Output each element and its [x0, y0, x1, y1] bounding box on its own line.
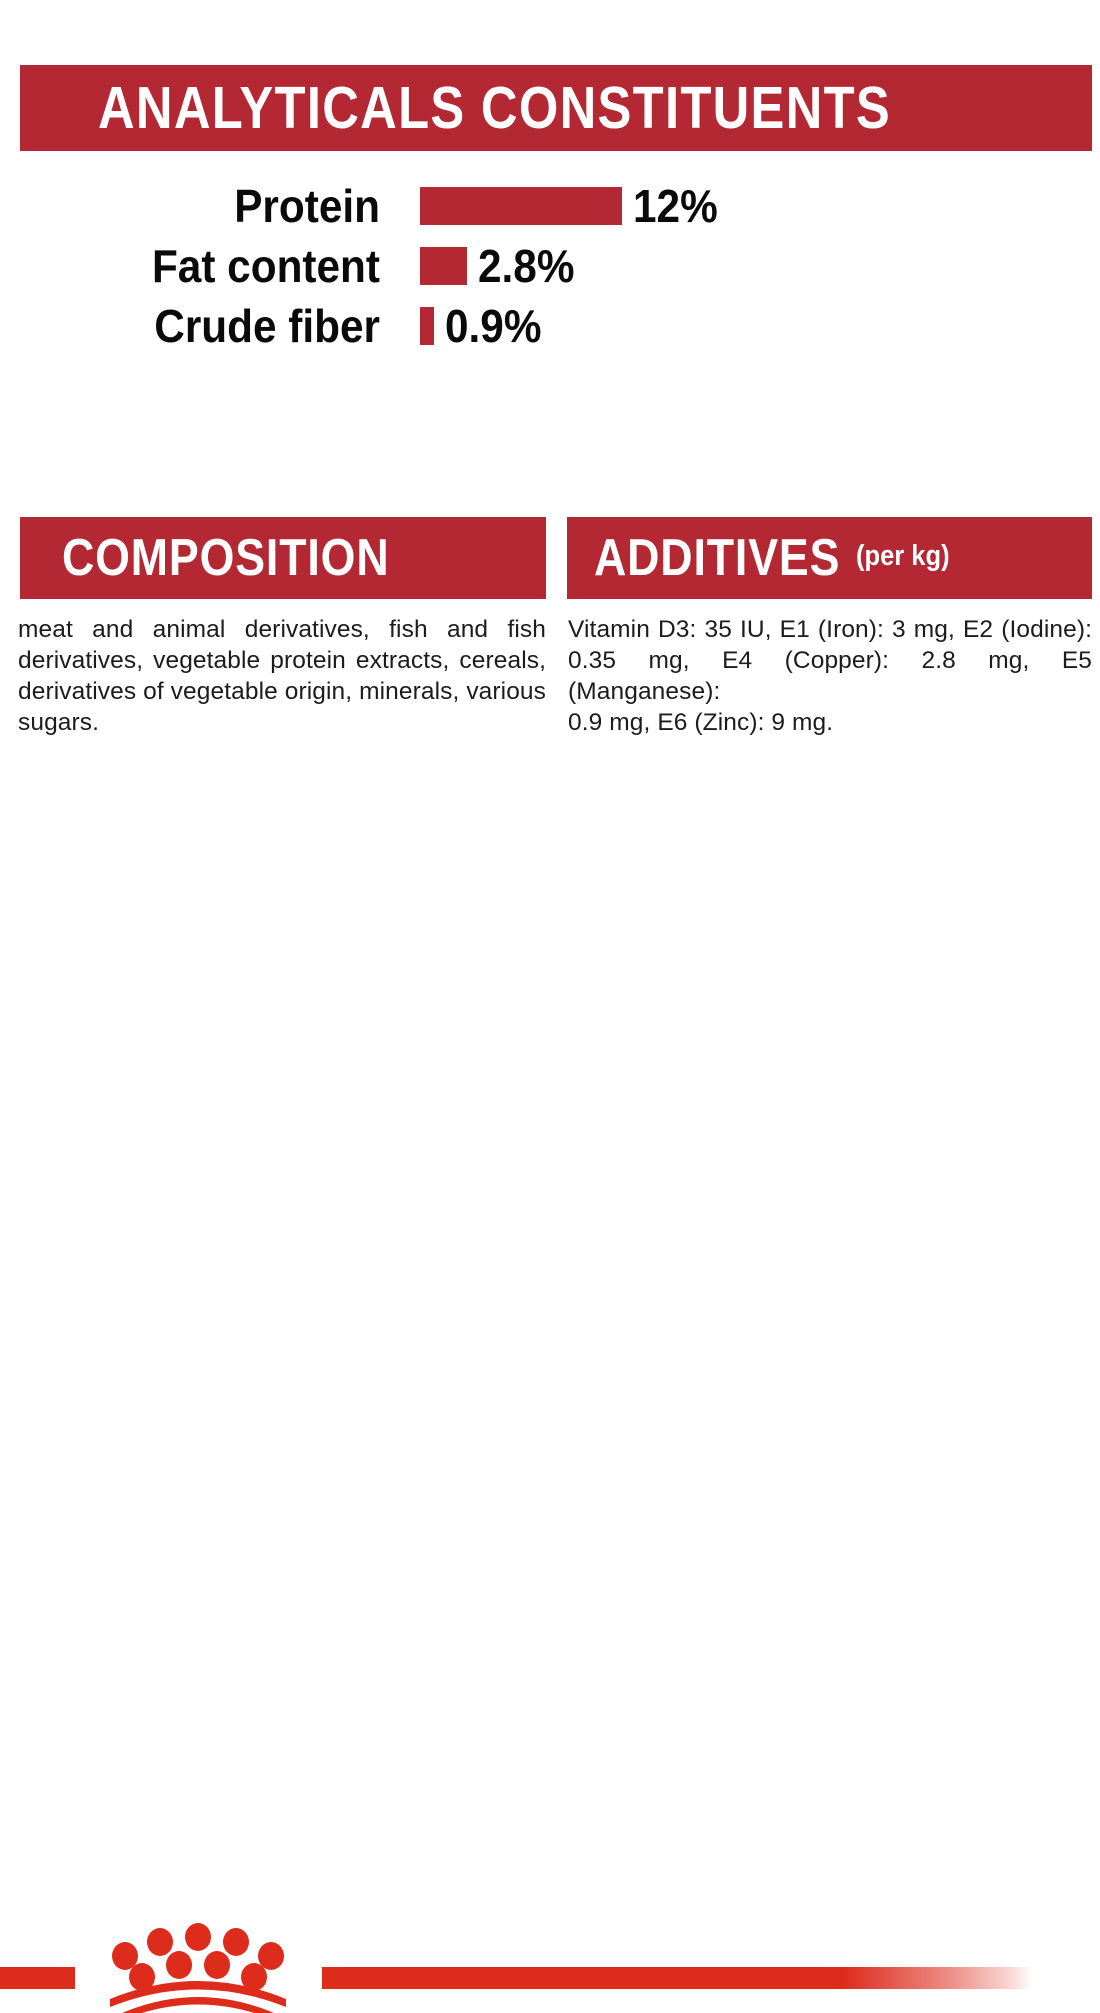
page-title: ANALYTICALS CONSTITUENTS: [98, 79, 891, 138]
royal-canin-crown-icon: [78, 1923, 318, 2013]
footer-rule-right: [322, 1967, 1032, 1989]
additives-heading: ADDITIVES: [594, 532, 840, 584]
composition-heading: COMPOSITION: [62, 532, 389, 584]
chart-bar-crude-fiber: [420, 307, 434, 345]
chart-label-protein: Protein: [30, 183, 380, 229]
additives-banner: ADDITIVES (per kg): [567, 517, 1092, 599]
analytical-constituents-chart: Protein 12% Fat content 2.8% Crude fiber…: [0, 176, 1100, 356]
chart-row-fat-content: Fat content 2.8%: [0, 236, 1100, 296]
composition-banner: COMPOSITION: [20, 517, 546, 599]
chart-label-crude-fiber: Crude fiber: [30, 303, 380, 349]
chart-bar-group-crude-fiber: 0.9%: [420, 303, 550, 349]
chart-bar-protein: [420, 187, 622, 225]
chart-bar-fat-content: [420, 247, 467, 285]
additives-heading-suffix: (per kg): [856, 540, 950, 576]
chart-value-fat-content: 2.8%: [478, 243, 574, 289]
additives-text-line-1: Vitamin D3: 35 IU, E1 (Iron): 3 mg, E2 (…: [568, 614, 1092, 645]
additives-text-line-2: 0.35 mg, E4 (Copper): 2.8 mg, E5 (Mangan…: [568, 645, 1092, 707]
chart-row-crude-fiber: Crude fiber 0.9%: [0, 296, 1100, 356]
footer: [0, 955, 1100, 1075]
chart-label-fat-content: Fat content: [30, 243, 380, 289]
analytical-constituents-banner: ANALYTICALS CONSTITUENTS: [20, 65, 1092, 151]
additives-text: Vitamin D3: 35 IU, E1 (Iron): 3 mg, E2 (…: [568, 614, 1092, 738]
chart-value-crude-fiber: 0.9%: [445, 303, 541, 349]
additives-text-line-3: 0.9 mg, E6 (Zinc): 9 mg.: [568, 707, 1092, 738]
chart-bar-group-fat-content: 2.8%: [420, 243, 583, 289]
chart-row-protein: Protein 12%: [0, 176, 1100, 236]
chart-bar-group-protein: 12%: [420, 183, 725, 229]
chart-value-protein: 12%: [633, 183, 718, 229]
composition-text: meat and animal derivatives, fish and fi…: [18, 614, 546, 738]
footer-rule-left: [0, 1967, 75, 1989]
